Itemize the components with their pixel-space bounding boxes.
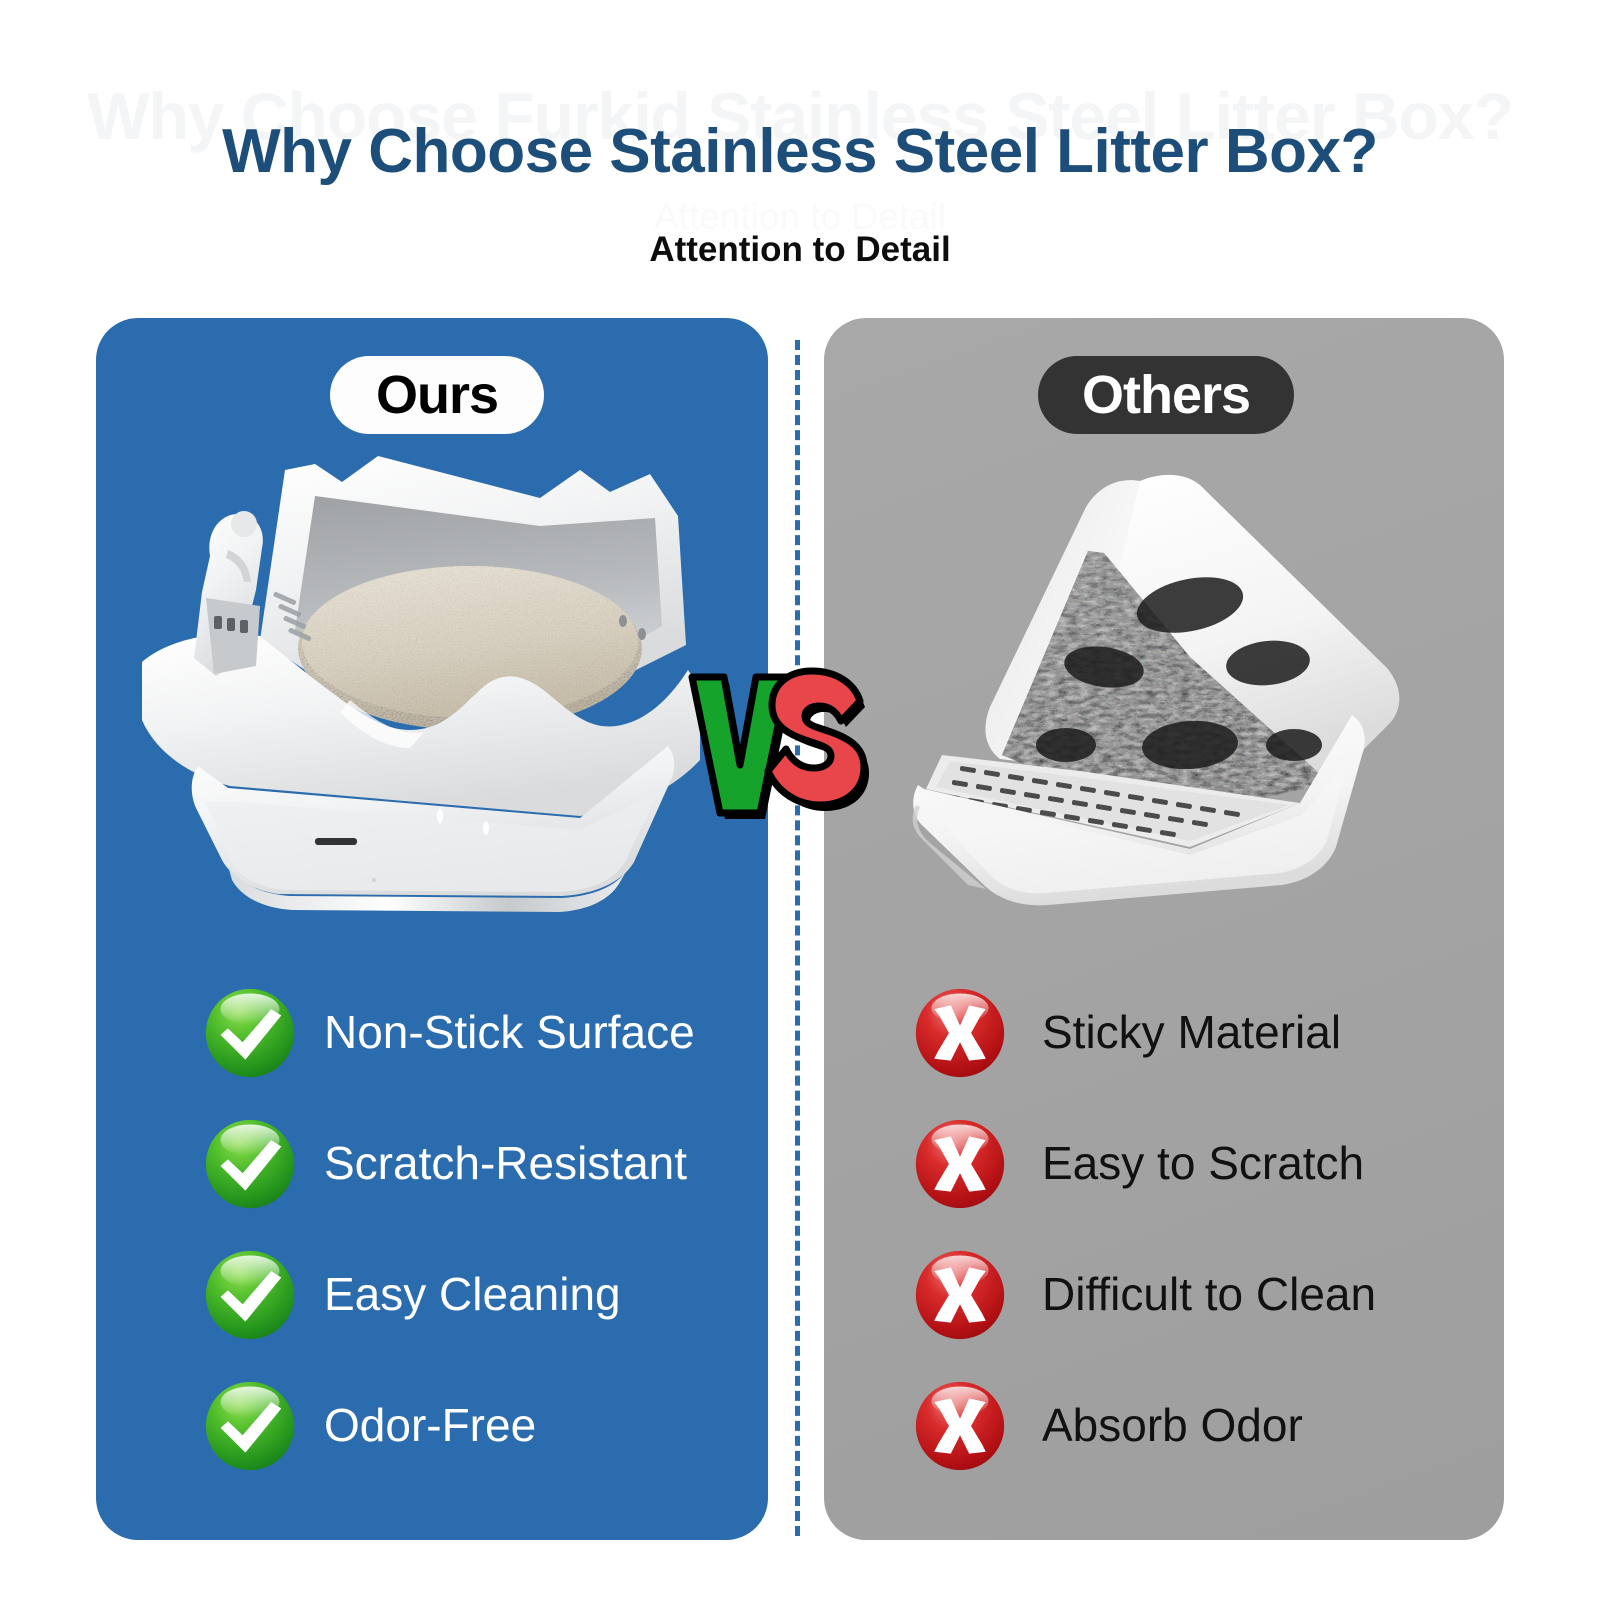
product-image-others	[890, 455, 1450, 955]
feature-row: Easy Cleaning	[96, 1247, 768, 1378]
feature-label: Scratch-Resistant	[324, 1136, 687, 1190]
feature-label: Easy Cleaning	[324, 1267, 621, 1321]
feature-label: Sticky Material	[1042, 1005, 1341, 1059]
feature-row: Odor-Free	[96, 1378, 768, 1509]
feature-row: Absorb Odor	[824, 1378, 1504, 1509]
product-image-ours	[110, 430, 730, 930]
badge-ours: Ours	[330, 356, 544, 434]
red-cross-icon	[914, 1249, 1006, 1341]
page-subtitle: Attention to Detail	[0, 230, 1600, 270]
feature-list-ours: Non-Stick Surface Scratch-Resistant Easy…	[96, 985, 768, 1509]
feature-row: Non-Stick Surface	[96, 985, 768, 1116]
feature-list-others: Sticky Material Easy to Scratch Difficul…	[824, 985, 1504, 1509]
feature-label: Absorb Odor	[1042, 1398, 1303, 1452]
badge-others: Others	[1038, 356, 1294, 434]
feature-label: Non-Stick Surface	[324, 1005, 695, 1059]
red-cross-icon	[914, 987, 1006, 1079]
green-check-icon	[204, 1380, 296, 1472]
page-title: Why Choose Stainless Steel Litter Box?	[0, 116, 1600, 187]
feature-row: Scratch-Resistant	[96, 1116, 768, 1247]
red-cross-icon	[914, 1118, 1006, 1210]
vs-graphic	[684, 655, 870, 820]
feature-label: Odor-Free	[324, 1398, 536, 1452]
comparison-infographic: Why Choose Furkid Stainless Steel Litter…	[0, 0, 1600, 1600]
feature-row: Difficult to Clean	[824, 1247, 1504, 1378]
red-cross-icon	[914, 1380, 1006, 1472]
green-check-icon	[204, 987, 296, 1079]
feature-label: Difficult to Clean	[1042, 1267, 1376, 1321]
feature-row: Easy to Scratch	[824, 1116, 1504, 1247]
feature-row: Sticky Material	[824, 985, 1504, 1116]
green-check-icon	[204, 1249, 296, 1341]
green-check-icon	[204, 1118, 296, 1210]
panel-divider	[795, 340, 800, 1536]
feature-label: Easy to Scratch	[1042, 1136, 1364, 1190]
